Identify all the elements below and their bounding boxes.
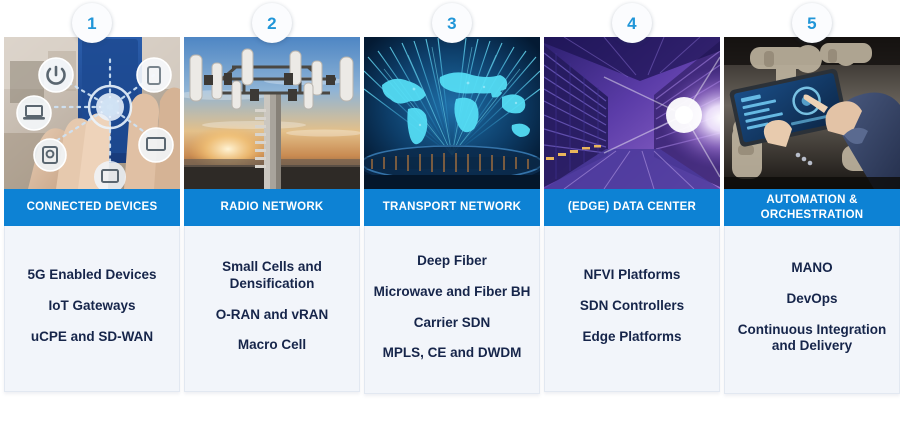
pillar-number-badge: 2 — [252, 3, 292, 43]
pillar-title: AUTOMATION & ORCHESTRATION — [728, 193, 896, 222]
five-pillar-infographic: 1 — [0, 0, 900, 423]
list-item: MPLS, CE and DWDM — [383, 345, 522, 362]
radio-network-photo — [184, 37, 360, 189]
pillar-title: RADIO NETWORK — [221, 200, 324, 215]
pillar-number: 4 — [627, 15, 637, 32]
pillar-body: 5G Enabled Devices IoT Gateways uCPE and… — [4, 226, 180, 392]
list-item: Small Cells and Densification — [193, 259, 351, 293]
list-item: uCPE and SD-WAN — [31, 329, 153, 346]
list-item: Continuous Integration and Delivery — [733, 322, 891, 356]
pillar-edge-data-center[interactable]: 4 — [544, 37, 720, 392]
pillar-title: (EDGE) DATA CENTER — [568, 200, 696, 215]
pillar-number: 2 — [267, 15, 277, 32]
pillar-title-band: TRANSPORT NETWORK — [364, 189, 540, 226]
pillar-radio-network[interactable]: 2 — [184, 37, 360, 392]
connected-devices-photo — [4, 37, 180, 189]
pillar-title: CONNECTED DEVICES — [27, 200, 158, 215]
edge-data-center-photo — [544, 37, 720, 189]
automation-orchestration-photo — [724, 37, 900, 189]
pillar-number-badge: 1 — [72, 3, 112, 43]
pillar-body: MANO DevOps Continuous Integration and D… — [724, 226, 900, 394]
list-item: 5G Enabled Devices — [27, 267, 156, 284]
pillar-title-band: AUTOMATION & ORCHESTRATION — [724, 189, 900, 226]
pillar-number-badge: 3 — [432, 3, 472, 43]
pillar-connected-devices[interactable]: 1 — [4, 37, 180, 392]
list-item: MANO — [791, 260, 832, 277]
pillar-body: Small Cells and Densification O-RAN and … — [184, 226, 360, 392]
transport-network-photo — [364, 37, 540, 189]
list-item: Microwave and Fiber BH — [374, 284, 531, 301]
pillar-title-band: RADIO NETWORK — [184, 189, 360, 226]
pillar-automation-orchestration[interactable]: 5 — [724, 37, 900, 394]
pillar-number-badge: 5 — [792, 3, 832, 43]
pillar-body: NFVI Platforms SDN Controllers Edge Plat… — [544, 226, 720, 392]
list-item: IoT Gateways — [48, 298, 135, 315]
pillar-number: 3 — [447, 15, 457, 32]
pillar-title-band: (EDGE) DATA CENTER — [544, 189, 720, 226]
list-item: DevOps — [786, 291, 837, 308]
list-item: Macro Cell — [238, 337, 306, 354]
list-item: Edge Platforms — [582, 329, 681, 346]
list-item: Deep Fiber — [417, 253, 487, 270]
pillar-transport-network[interactable]: 3 — [364, 37, 540, 394]
list-item: Carrier SDN — [414, 315, 491, 332]
pillar-number-badge: 4 — [612, 3, 652, 43]
pillar-body: Deep Fiber Microwave and Fiber BH Carrie… — [364, 226, 540, 394]
list-item: SDN Controllers — [580, 298, 684, 315]
pillar-title: TRANSPORT NETWORK — [383, 200, 521, 215]
pillar-number: 1 — [87, 15, 97, 32]
pillar-title-band: CONNECTED DEVICES — [4, 189, 180, 226]
list-item: NFVI Platforms — [584, 267, 681, 284]
list-item: O-RAN and vRAN — [216, 307, 329, 324]
pillar-number: 5 — [807, 15, 817, 32]
